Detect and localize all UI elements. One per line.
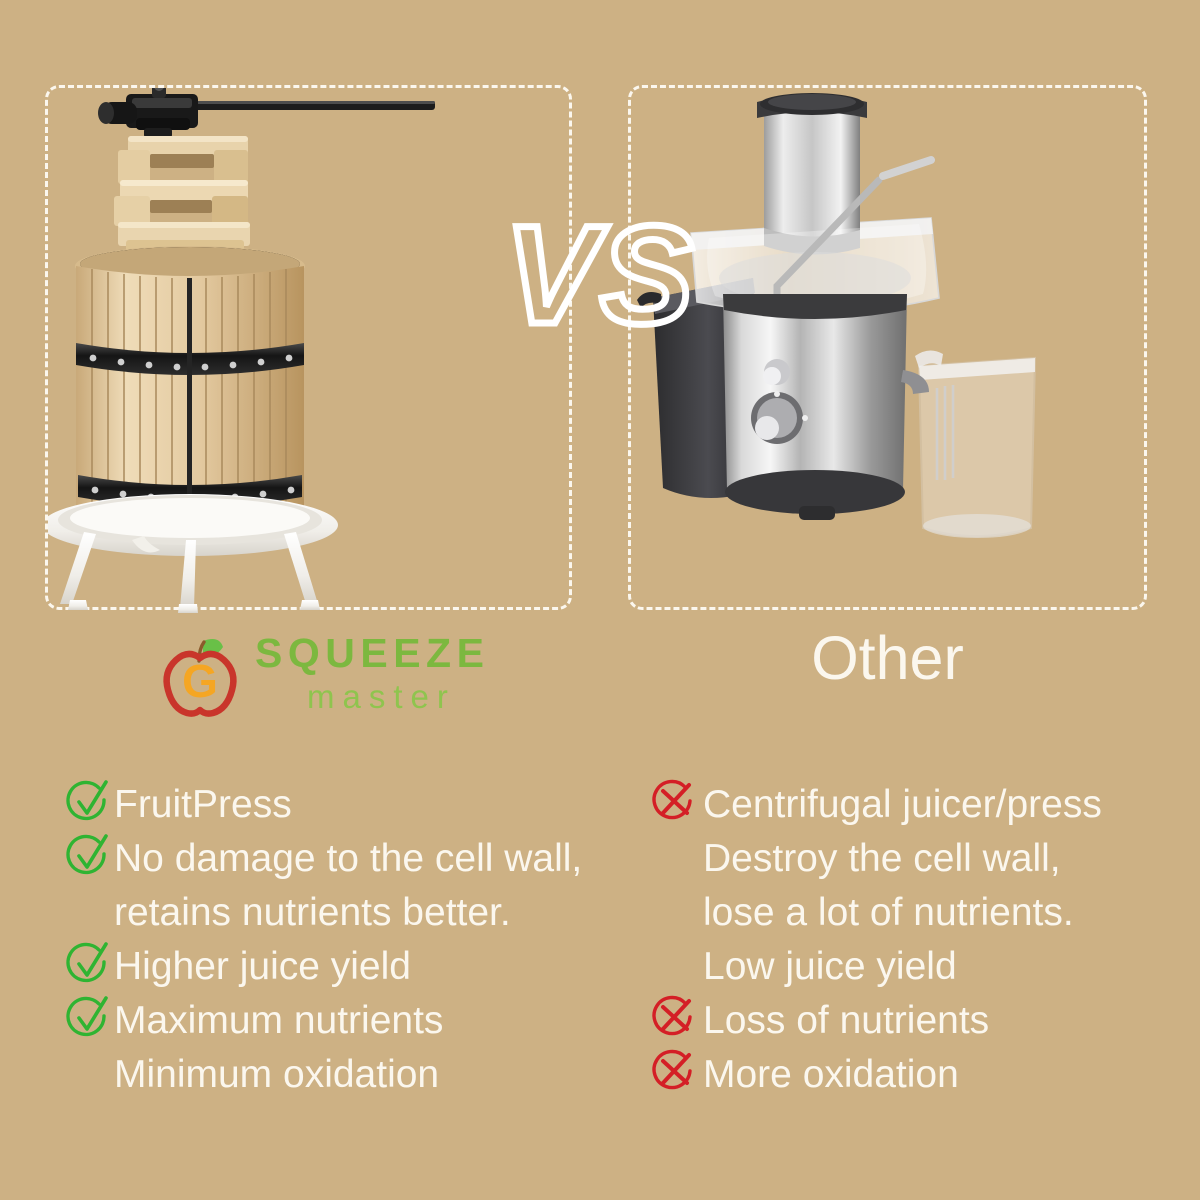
brand-secondary-text: master (307, 680, 489, 713)
list-item-label: Destroy the cell wall, (703, 832, 1061, 886)
list-item-label: Centrifugal juicer/press (703, 778, 1102, 832)
brand-wordmark: SQUEEZE master (255, 633, 489, 713)
check-circle-icon (66, 779, 112, 825)
juicer-juice-pitcher (915, 350, 1035, 538)
list-item-label: Higher juice yield (114, 940, 411, 994)
list-item: Loss of nutrients (653, 994, 1173, 1048)
list-item: Higher juice yield (68, 940, 608, 994)
check-circle-icon (66, 995, 112, 1041)
panel-fruit-press (45, 85, 572, 610)
brand-caption: G SQUEEZE master (45, 625, 572, 725)
x-circle-icon (651, 1049, 697, 1095)
list-item-label: Minimum oxidation (114, 1048, 439, 1102)
other-heading: Other (628, 628, 1147, 689)
list-item-label: FruitPress (114, 778, 292, 832)
press-wood-blocks (114, 136, 250, 264)
list-item: Centrifugal juicer/press (653, 778, 1173, 832)
list-item: Minimum oxidation (68, 1048, 608, 1102)
check-circle-icon (66, 941, 112, 987)
juicer-body (723, 294, 907, 520)
x-circle-icon (651, 779, 697, 825)
cons-list: Centrifugal juicer/press Destroy the cel… (653, 778, 1173, 1102)
list-item: Destroy the cell wall, (653, 832, 1173, 886)
fruit-press-image (48, 88, 569, 607)
list-item-label: More oxidation (703, 1048, 959, 1102)
brand-primary-text: SQUEEZE (255, 633, 489, 674)
list-item-label: No damage to the cell wall, (114, 832, 582, 886)
list-item: FruitPress (68, 778, 608, 832)
press-handle-bar (190, 101, 435, 110)
press-ratchet-head (98, 88, 198, 138)
apple-logo-letter: G (182, 655, 218, 707)
juicer-illustration (631, 88, 1150, 613)
panel-centrifugal-juicer (628, 85, 1147, 610)
pros-list: FruitPress No damage to the cell wall, r… (68, 778, 608, 1102)
list-item: Low juice yield (653, 940, 1173, 994)
fruit-press-illustration (48, 88, 575, 613)
press-tie-rod (187, 278, 192, 528)
juicer-image (631, 88, 1144, 607)
list-item: Maximum nutrients (68, 994, 608, 1048)
comparison-infographic: VS G SQUEEZE master Other (0, 0, 1200, 1200)
apple-logo-icon: G (155, 627, 247, 719)
list-item-label: Loss of nutrients (703, 994, 989, 1048)
check-circle-icon (66, 833, 112, 879)
list-item: lose a lot of nutrients. (653, 886, 1173, 940)
list-item-label: lose a lot of nutrients. (703, 886, 1074, 940)
list-item-label: Low juice yield (703, 940, 957, 994)
list-item: More oxidation (653, 1048, 1173, 1102)
x-circle-icon (651, 995, 697, 1041)
list-item-label: retains nutrients better. (114, 886, 511, 940)
list-item: No damage to the cell wall, (68, 832, 608, 886)
list-item-label: Maximum nutrients (114, 994, 443, 1048)
list-item: retains nutrients better. (68, 886, 608, 940)
